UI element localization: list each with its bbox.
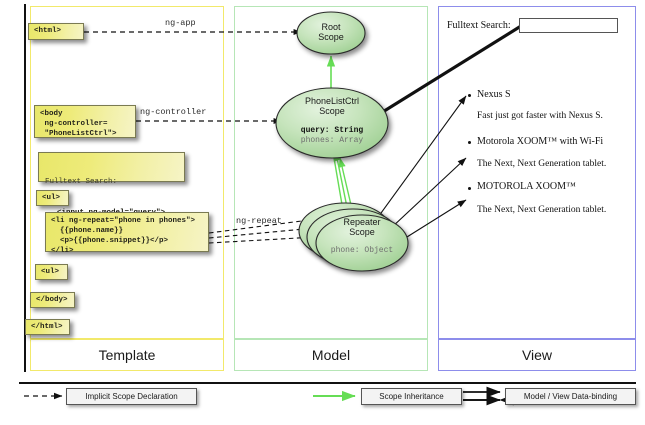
view-list-bullet-2 — [468, 141, 471, 144]
view-search-label: Fulltext Search: — [447, 20, 511, 31]
scope-root-shape — [297, 12, 365, 54]
edge-label-ng-controller: ng-controller — [140, 107, 206, 117]
legend-label-scope-inheritance: Scope Inheritance — [361, 388, 462, 405]
legend-divider — [19, 382, 636, 384]
view-list-item-snippet-2: The Next, Next Generation tablet. — [477, 159, 606, 169]
scope-phonelistctrl-shape — [276, 88, 388, 158]
legend-text-model-view-data-binding: Model / View Data-binding — [524, 392, 617, 401]
scope-repeater-shape-stack — [299, 203, 408, 271]
view-search-input[interactable] — [519, 18, 618, 33]
edge-label-ng-repeat: ng-repeat — [236, 216, 282, 226]
diagram-root: Template Model View — [0, 0, 645, 425]
legend-text-scope-inheritance: Scope Inheritance — [379, 392, 444, 401]
view-list-item-name-3: MOTOROLA XOOM™ — [477, 181, 576, 192]
code-box-fulltext-search-line1: Fulltext Search: — [45, 177, 178, 187]
edge-label-ng-app: ng-app — [165, 18, 196, 28]
code-box-ul-open: <ul> — [36, 190, 69, 206]
view-list-bullet-1 — [468, 94, 471, 97]
legend-label-implicit-scope-declaration: Implicit Scope Declaration — [66, 388, 197, 405]
view-list-item-name-1: Nexus S — [477, 89, 511, 100]
legend-glyph-model-view-data-binding — [463, 392, 500, 400]
code-box-body-close: </body> — [30, 292, 75, 308]
legend-text-implicit-scope-declaration: Implicit Scope Declaration — [85, 392, 177, 401]
view-list-item-name-2: Motorola XOOM™ with Wi-Fi — [477, 136, 603, 147]
code-box-fulltext-search: Fulltext Search: <input ng-model="query"… — [38, 152, 185, 182]
code-box-html-close: </html> — [25, 319, 70, 335]
code-box-body-open: <body ng-controller= "PhoneListCtrl"> — [34, 105, 136, 138]
view-list-item-snippet-1: Fast just got faster with Nexus S. — [477, 111, 603, 121]
code-box-html-open: <html> — [28, 23, 84, 40]
code-box-li-repeat: <li ng-repeat="phone in phones"> {{phone… — [45, 212, 209, 252]
view-list-item-snippet-3: The Next, Next Generation tablet. — [477, 205, 606, 215]
legend-label-model-view-data-binding: Model / View Data-binding — [505, 388, 636, 405]
view-list-bullet-3 — [468, 187, 471, 190]
code-box-ul-close: <ul> — [35, 264, 68, 280]
